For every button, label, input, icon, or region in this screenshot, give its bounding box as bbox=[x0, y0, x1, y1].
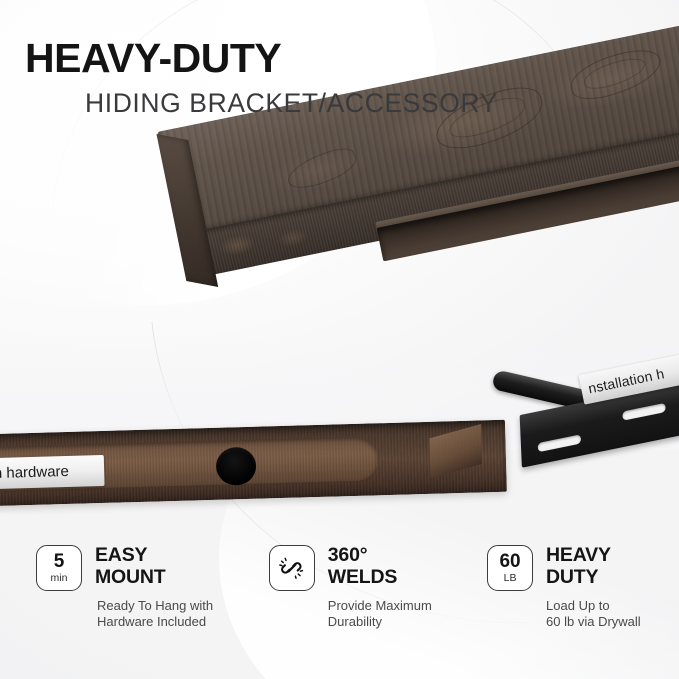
feature-easy-mount-text: EASY MOUNT Ready To Hang with Hardware I… bbox=[95, 545, 213, 631]
feature-easy-mount-title-line2: MOUNT bbox=[95, 567, 213, 589]
weight-capacity-badge: 60 LB bbox=[487, 545, 533, 591]
feature-heavy-duty-title-line2: DUTY bbox=[546, 567, 641, 589]
feature-easy-mount: 5 min EASY MOUNT Ready To Hang with Hard… bbox=[0, 539, 253, 659]
feature-heavy-duty-text: HEAVY DUTY Load Up to 60 lb via Drywall bbox=[546, 545, 641, 631]
feature-360-welds-desc-line2: Durability bbox=[328, 614, 432, 631]
feature-easy-mount-title-line1: EASY bbox=[95, 545, 213, 567]
feature-heavy-duty-title-line1: HEAVY bbox=[546, 545, 641, 567]
feature-heavy-duty: 60 LB HEAVY DUTY Load Up to 60 lb via Dr… bbox=[469, 539, 679, 659]
feature-heavy-duty-desc-line1: Load Up to bbox=[546, 598, 641, 615]
weight-capacity-value: 60 bbox=[499, 552, 520, 571]
product-photo-lower: ion hardware bbox=[0, 418, 679, 523]
installation-hardware-label-lower: ion hardware bbox=[0, 455, 105, 490]
feature-row: 5 min EASY MOUNT Ready To Hang with Hard… bbox=[0, 539, 679, 659]
feature-easy-mount-desc-line1: Ready To Hang with bbox=[97, 598, 213, 615]
feature-heavy-duty-desc-line2: 60 lb via Drywall bbox=[546, 614, 641, 631]
product-image-canvas: HEAVY-DUTY HIDING BRACKET/ACCESSORY nsta… bbox=[0, 0, 679, 679]
feature-360-welds: 360° WELDS Provide Maximum Durability bbox=[253, 539, 469, 659]
timer-badge-value: 5 bbox=[54, 552, 65, 571]
feature-360-welds-title-line2: WELDS bbox=[328, 567, 432, 589]
shelf-underside-closeup: ion hardware bbox=[0, 420, 507, 506]
weight-capacity-unit: LB bbox=[504, 572, 517, 584]
timer-badge-unit: min bbox=[51, 572, 68, 584]
chain-link-weld-icon bbox=[269, 545, 315, 591]
feature-360-welds-desc-line1: Provide Maximum bbox=[328, 598, 432, 615]
timer-badge: 5 min bbox=[36, 545, 82, 591]
feature-360-welds-text: 360° WELDS Provide Maximum Durability bbox=[328, 545, 432, 631]
headline-subtitle: HIDING BRACKET/ACCESSORY bbox=[85, 90, 645, 117]
feature-easy-mount-desc-line2: Hardware Included bbox=[97, 614, 213, 631]
feature-360-welds-title-line1: 360° bbox=[328, 545, 432, 567]
chain-link-weld-glyph bbox=[279, 555, 305, 581]
product-photo-upper: nstallation h bbox=[0, 120, 679, 400]
installation-hardware-label-lower-text: ion hardware bbox=[0, 455, 105, 490]
wood-grain-swirl bbox=[283, 143, 360, 194]
headline-title: HEAVY-DUTY bbox=[25, 38, 645, 80]
headline-block: HEAVY-DUTY HIDING BRACKET/ACCESSORY bbox=[25, 38, 645, 116]
